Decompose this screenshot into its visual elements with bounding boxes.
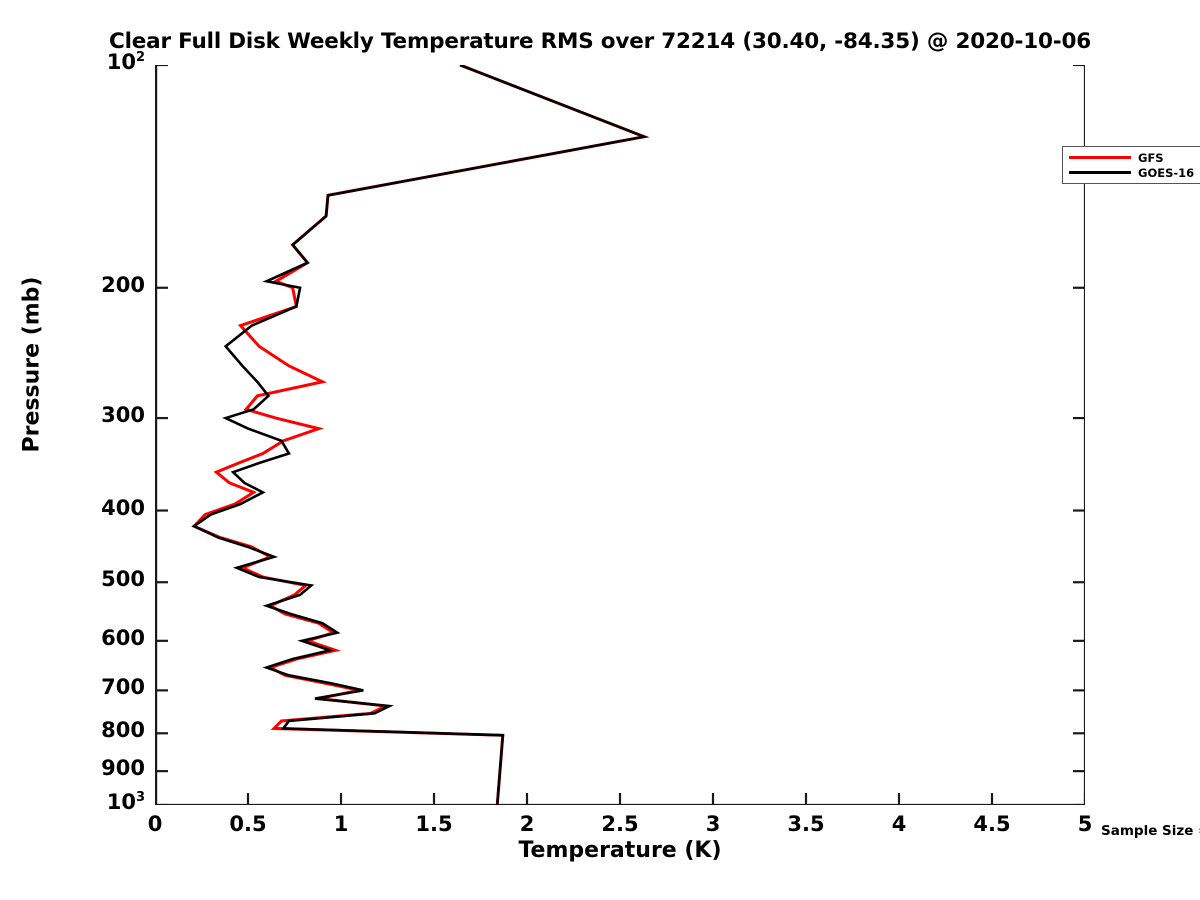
y-axis-ticks [156, 65, 1085, 805]
y-tick-label: 103 [0, 790, 145, 814]
data-series-group [194, 65, 644, 805]
y-tick-label: 800 [0, 718, 145, 742]
chart-root: Clear Full Disk Weekly Temperature RMS o… [0, 0, 1200, 900]
legend-entry-gfs: GFS [1069, 150, 1200, 165]
x-tick-label: 4 [859, 812, 939, 836]
x-axis-title: Temperature (K) [155, 838, 1085, 863]
x-tick-label: 1 [301, 812, 381, 836]
y-tick-label: 700 [0, 675, 145, 699]
x-tick-label: 3 [673, 812, 753, 836]
axis-frame [156, 65, 1085, 805]
x-tick-label: 0 [115, 812, 195, 836]
y-tick-label: 102 [0, 50, 145, 74]
chart-title: Clear Full Disk Weekly Temperature RMS o… [0, 29, 1200, 54]
legend-box: GFS GOES-16 [1062, 146, 1200, 184]
x-tick-label: 2.5 [580, 812, 660, 836]
plot-canvas [155, 65, 1085, 805]
sample-size-annotation: Sample Size = 5 [1101, 823, 1200, 839]
legend-label-gfs: GFS [1138, 151, 1164, 165]
x-tick-label: 1.5 [394, 812, 474, 836]
x-tick-label: 3.5 [766, 812, 846, 836]
y-tick-label: 600 [0, 626, 145, 650]
x-tick-label: 2 [487, 812, 567, 836]
legend-label-goes16: GOES-16 [1138, 166, 1194, 180]
legend-swatch-goes16 [1069, 171, 1131, 174]
series-line-goes-16 [194, 65, 644, 805]
x-axis-ticks [155, 793, 1085, 805]
axis-spines [156, 65, 1085, 805]
y-axis-title: Pressure (mb) [20, 235, 45, 495]
plot-area: 102200300400500600700800900103 00.511.52… [155, 65, 1085, 805]
x-tick-label: 0.5 [208, 812, 288, 836]
series-line-gfs [194, 65, 644, 805]
y-tick-label: 500 [0, 567, 145, 591]
legend-entry-goes16: GOES-16 [1069, 165, 1200, 180]
y-tick-label: 400 [0, 496, 145, 520]
legend-swatch-gfs [1069, 156, 1131, 159]
x-tick-label: 4.5 [952, 812, 1032, 836]
y-tick-label: 900 [0, 756, 145, 780]
